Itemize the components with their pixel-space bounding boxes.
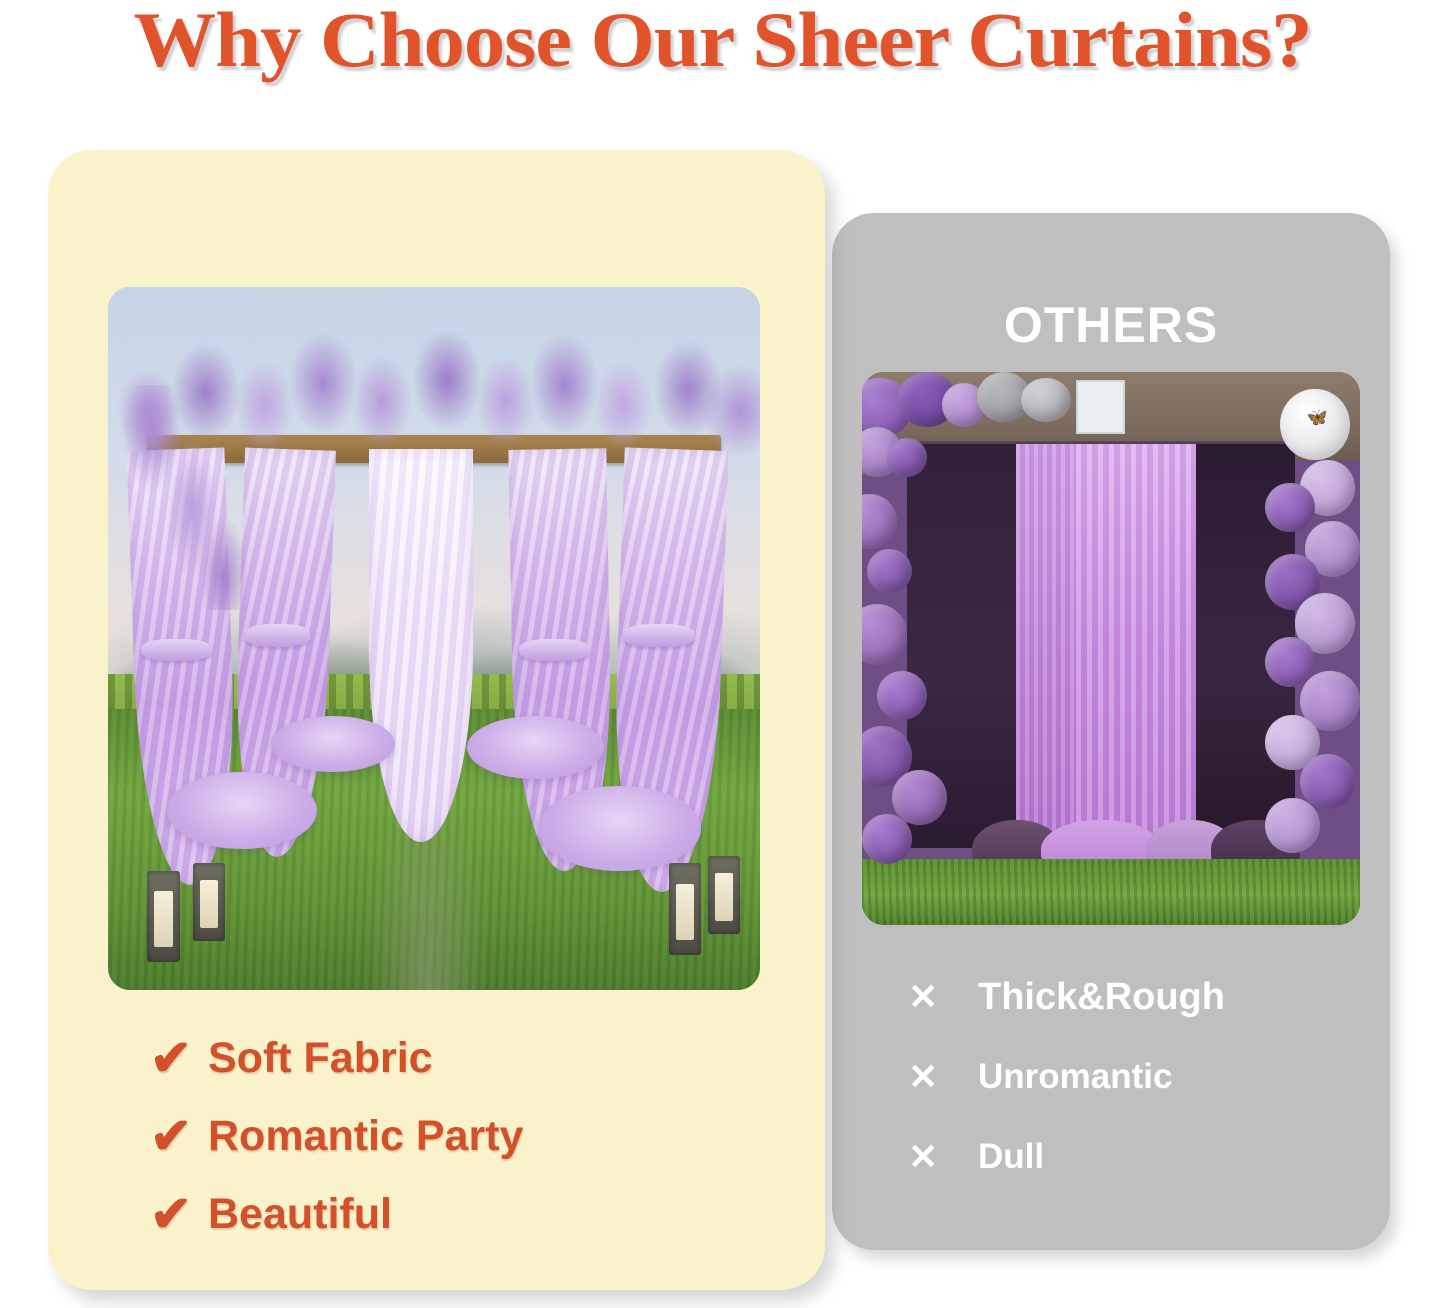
grass-ground (862, 859, 1360, 925)
others-feature-item: ✕ Thick&Rough (908, 957, 1368, 1037)
balloon (862, 814, 912, 864)
balloon (862, 604, 907, 665)
our-feature-label: Romantic Party (208, 1112, 523, 1161)
others-feature-label: Dull (978, 1137, 1044, 1177)
our-feature-item: ✔ Soft Fabric (150, 1019, 750, 1097)
bright-curtain-panel-left (1016, 444, 1076, 848)
bright-curtain-panel-center (1076, 444, 1196, 848)
balloon (1265, 798, 1320, 853)
cross-icon: ✕ (908, 979, 978, 1015)
curtain-tieback (623, 624, 695, 646)
others-feature-list: ✕ Thick&Rough ✕ Unromantic ✕ Dull (908, 957, 1368, 1197)
curtain-pool (467, 716, 604, 779)
balloon (887, 438, 927, 477)
others-feature-item: ✕ Dull (908, 1117, 1368, 1197)
balloon (1021, 378, 1071, 422)
others-product-photo: 🦋 (862, 372, 1360, 925)
lantern (708, 856, 741, 933)
curtain-pool (538, 786, 701, 870)
curtain-tieback (519, 639, 591, 661)
page-title: Why Choose Our Sheer Curtains? (0, 0, 1445, 82)
balloon (877, 671, 927, 721)
our-feature-item: ✔ Beautiful (150, 1175, 750, 1253)
lantern (147, 871, 180, 962)
curtain-tieback (141, 639, 213, 661)
others-feature-label: Thick&Rough (978, 976, 1225, 1019)
balloon (1265, 483, 1315, 533)
butterfly-icon: 🦋 (1306, 408, 1327, 428)
cross-icon: ✕ (908, 1059, 978, 1095)
our-feature-list: ✔ Soft Fabric ✔ Romantic Party ✔ Beautif… (150, 1019, 750, 1253)
lantern (669, 863, 702, 954)
cross-icon: ✕ (908, 1139, 978, 1175)
our-product-photo (108, 287, 760, 990)
lavender-flower-cascade (121, 385, 264, 610)
check-icon: ✔ (150, 1189, 208, 1239)
others-feature-item: ✕ Unromantic (908, 1037, 1368, 1117)
our-feature-item: ✔ Romantic Party (150, 1097, 750, 1175)
balloon (867, 549, 912, 593)
house-window (1076, 380, 1125, 434)
others-heading: OTHERS (832, 296, 1390, 354)
curtain-pool (167, 772, 317, 849)
check-icon: ✔ (150, 1033, 208, 1083)
others-feature-label: Unromantic (978, 1057, 1172, 1097)
our-feature-label: Soft Fabric (208, 1034, 433, 1083)
lantern (193, 863, 226, 940)
curtain-pool (271, 716, 395, 772)
sheer-curtain-panel (369, 449, 473, 843)
check-icon: ✔ (150, 1111, 208, 1161)
balloon (862, 494, 897, 549)
curtain-tieback (245, 624, 310, 646)
our-feature-label: Beautiful (208, 1190, 392, 1239)
balloon (1300, 754, 1355, 809)
